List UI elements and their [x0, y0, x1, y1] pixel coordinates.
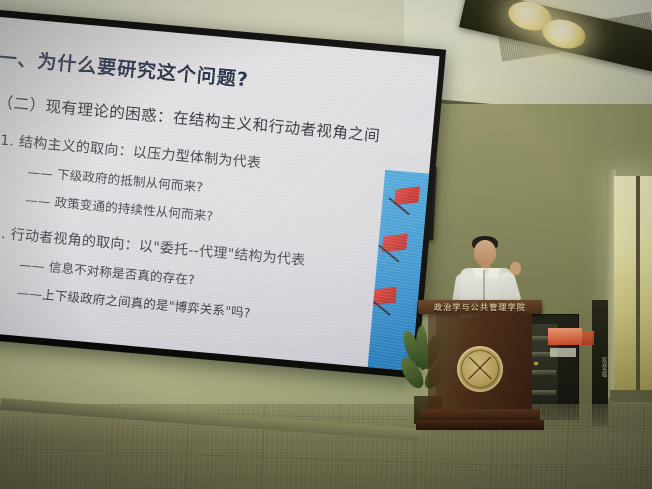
window — [614, 176, 652, 394]
podium-institution-text: 政治学与公共管理学院 — [426, 302, 534, 313]
screen-surface: 一、为什么要研究这个问题? （二）现有理论的困惑：在结构主义和行动者视角之间 1… — [0, 16, 440, 371]
university-seal-ring — [461, 350, 499, 388]
podium-foot — [416, 420, 544, 430]
rack-warning-label — [548, 328, 582, 345]
window-sill — [610, 390, 652, 402]
window-mullion — [636, 176, 640, 394]
gesturing-hand — [510, 262, 521, 275]
rack-paper-label — [550, 348, 576, 357]
projection-screen: 一、为什么要研究这个问题? （二）现有理论的困惑：在结构主义和行动者视角之间 1… — [0, 8, 446, 378]
lecture-hall-photo: 欢迎光临 一、为什么要研究这个问题? （二）现有理论的困惑：在结构主义和行动者视… — [0, 0, 652, 489]
red-flag-icon — [394, 186, 420, 205]
podium: 政治学与公共管理学院 — [424, 300, 536, 432]
